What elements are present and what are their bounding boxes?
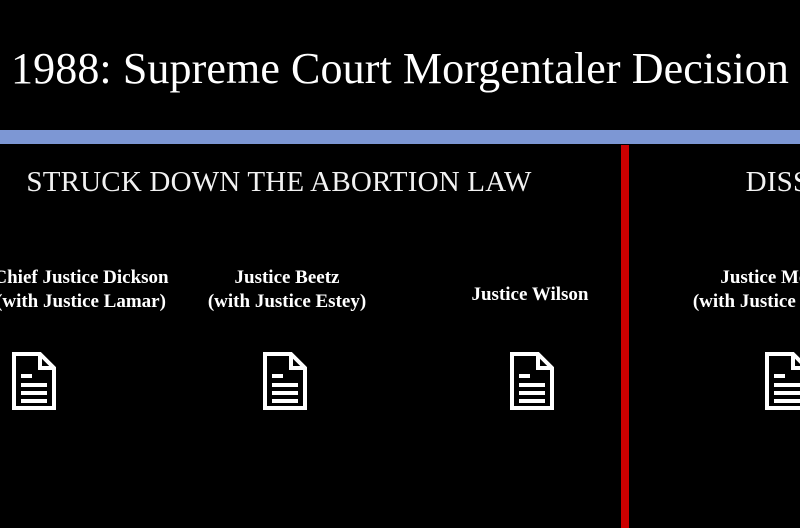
document-icon-mcintyre-wrapper[interactable] xyxy=(760,347,800,415)
heading-dissent: DISSENT xyxy=(641,163,800,201)
justice-name-primary: Justice Wilson xyxy=(471,283,588,307)
column-headings: STRUCK DOWN THE ABORTION LAW DISSENT xyxy=(0,163,800,203)
document-icon-wilson-wrapper[interactable] xyxy=(505,347,559,415)
document-icon[interactable] xyxy=(510,352,554,410)
heading-struck-down: STRUCK DOWN THE ABORTION LAW xyxy=(0,163,572,201)
justice-name-concurrence: (with Justice La Forest) xyxy=(693,290,800,314)
page-title: 1988: Supreme Court Morgentaler Decision xyxy=(11,46,789,92)
justice-block-mcintyre: Justice McIntyre (with Justice La Forest… xyxy=(644,266,800,324)
document-icon[interactable] xyxy=(12,352,56,410)
document-icon[interactable] xyxy=(263,352,307,410)
slide-title-area: 1988: Supreme Court Morgentaler Decision xyxy=(0,36,800,102)
document-icon-row xyxy=(0,347,800,415)
justice-name-row: Chief Justice Dickson (with Justice Lama… xyxy=(0,266,800,324)
document-icon[interactable] xyxy=(765,352,800,410)
justice-block-wilson: Justice Wilson xyxy=(440,266,620,324)
justice-name-concurrence: (with Justice Estey) xyxy=(208,290,366,314)
justice-name-primary: Chief Justice Dickson xyxy=(0,266,169,290)
justice-name-primary: Justice McIntyre xyxy=(720,266,800,290)
presentation-slide: 1988: Supreme Court Morgentaler Decision… xyxy=(0,0,800,528)
document-icon-beetz-wrapper[interactable] xyxy=(258,347,312,415)
blue-divider-rule xyxy=(0,130,800,144)
justice-name-primary: Justice Beetz xyxy=(235,266,340,290)
document-icon-dickson-wrapper[interactable] xyxy=(7,347,61,415)
justice-name-concurrence: (with Justice Lamar) xyxy=(0,290,166,314)
justice-block-beetz: Justice Beetz (with Justice Estey) xyxy=(172,266,402,324)
